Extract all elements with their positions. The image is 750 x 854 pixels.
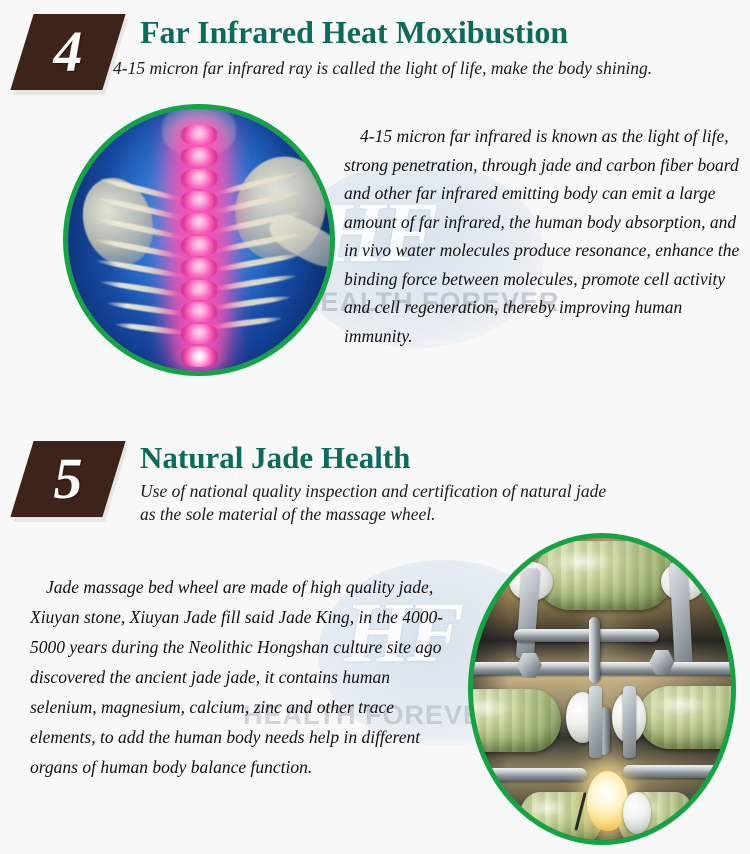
section-4-subtitle: 4-15 micron far infrared ray is called t… — [113, 57, 750, 80]
roller-disc — [623, 792, 651, 834]
section-4-body-text: 4-15 micron far infrared is known as the… — [344, 122, 744, 350]
section-5-number-badge: 5 — [10, 441, 125, 517]
metal-axle — [514, 629, 658, 642]
section-4-number: 4 — [22, 14, 114, 90]
jade-roller — [535, 541, 674, 610]
metal-axle — [473, 662, 731, 675]
jade-scene — [473, 538, 731, 840]
section-5-paragraph: Jade massage bed wheel are made of high … — [30, 572, 450, 782]
natural-jade-rollers-image — [468, 533, 736, 845]
spine-column — [181, 125, 218, 371]
section-5-subtitle-line-2: as the sole material of the massage whee… — [140, 503, 720, 526]
far-infrared-spine-image — [63, 104, 335, 376]
product-feature-page: HF HEALTH FOREVER 4 Far Infrared Heat Mo… — [0, 0, 750, 854]
section-4-title: Far Infrared Heat Moxibustion — [140, 14, 568, 50]
metal-axle — [623, 765, 726, 778]
spine-scene — [68, 109, 330, 371]
section-5-subtitle-line-1: Use of national quality inspection and c… — [140, 480, 720, 503]
jade-roller — [473, 689, 561, 752]
section-5-number: 5 — [22, 441, 114, 517]
metal-bracket — [589, 686, 602, 758]
metal-post — [589, 617, 600, 683]
warm-lamp — [587, 771, 628, 831]
section-4-number-badge: 4 — [10, 14, 125, 90]
metal-axle — [478, 768, 586, 781]
jade-roller — [638, 686, 731, 749]
section-5-body-text: Jade massage bed wheel are made of high … — [30, 572, 450, 782]
section-5-title: Natural Jade Health — [140, 440, 410, 476]
metal-bracket — [623, 686, 636, 758]
section-4-paragraph: 4-15 micron far infrared is known as the… — [344, 122, 744, 350]
section-5-subtitle: Use of national quality inspection and c… — [140, 480, 720, 526]
